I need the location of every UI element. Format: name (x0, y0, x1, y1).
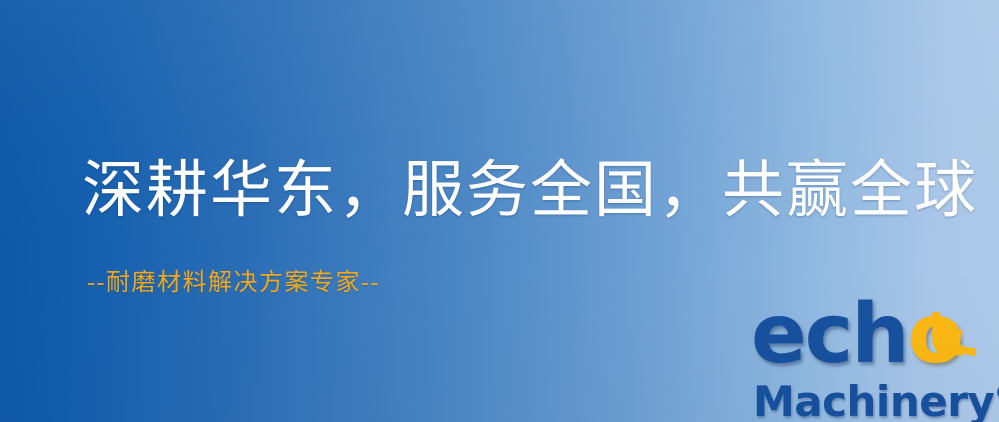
logo-echo-prefix: ech (751, 287, 908, 382)
logo-echo-text: echo (751, 294, 962, 376)
registered-trademark-icon: ® (994, 381, 999, 405)
logo-subtext: Machinery® (753, 371, 999, 422)
page-title: 深耕华东，服务全国，共赢全球 (82, 155, 978, 227)
hero-banner: 深耕华东，服务全国，共赢全球 --耐磨材料解决方案专家-- echo (0, 0, 999, 422)
logo-machinery-text: Machinery (753, 377, 994, 422)
company-logo[interactable]: echo Machinery® (748, 288, 996, 418)
logo-wordmark: echo (748, 294, 996, 372)
tagline: --耐磨材料解决方案专家-- (87, 268, 380, 298)
signal-arcs-icon (934, 294, 996, 354)
